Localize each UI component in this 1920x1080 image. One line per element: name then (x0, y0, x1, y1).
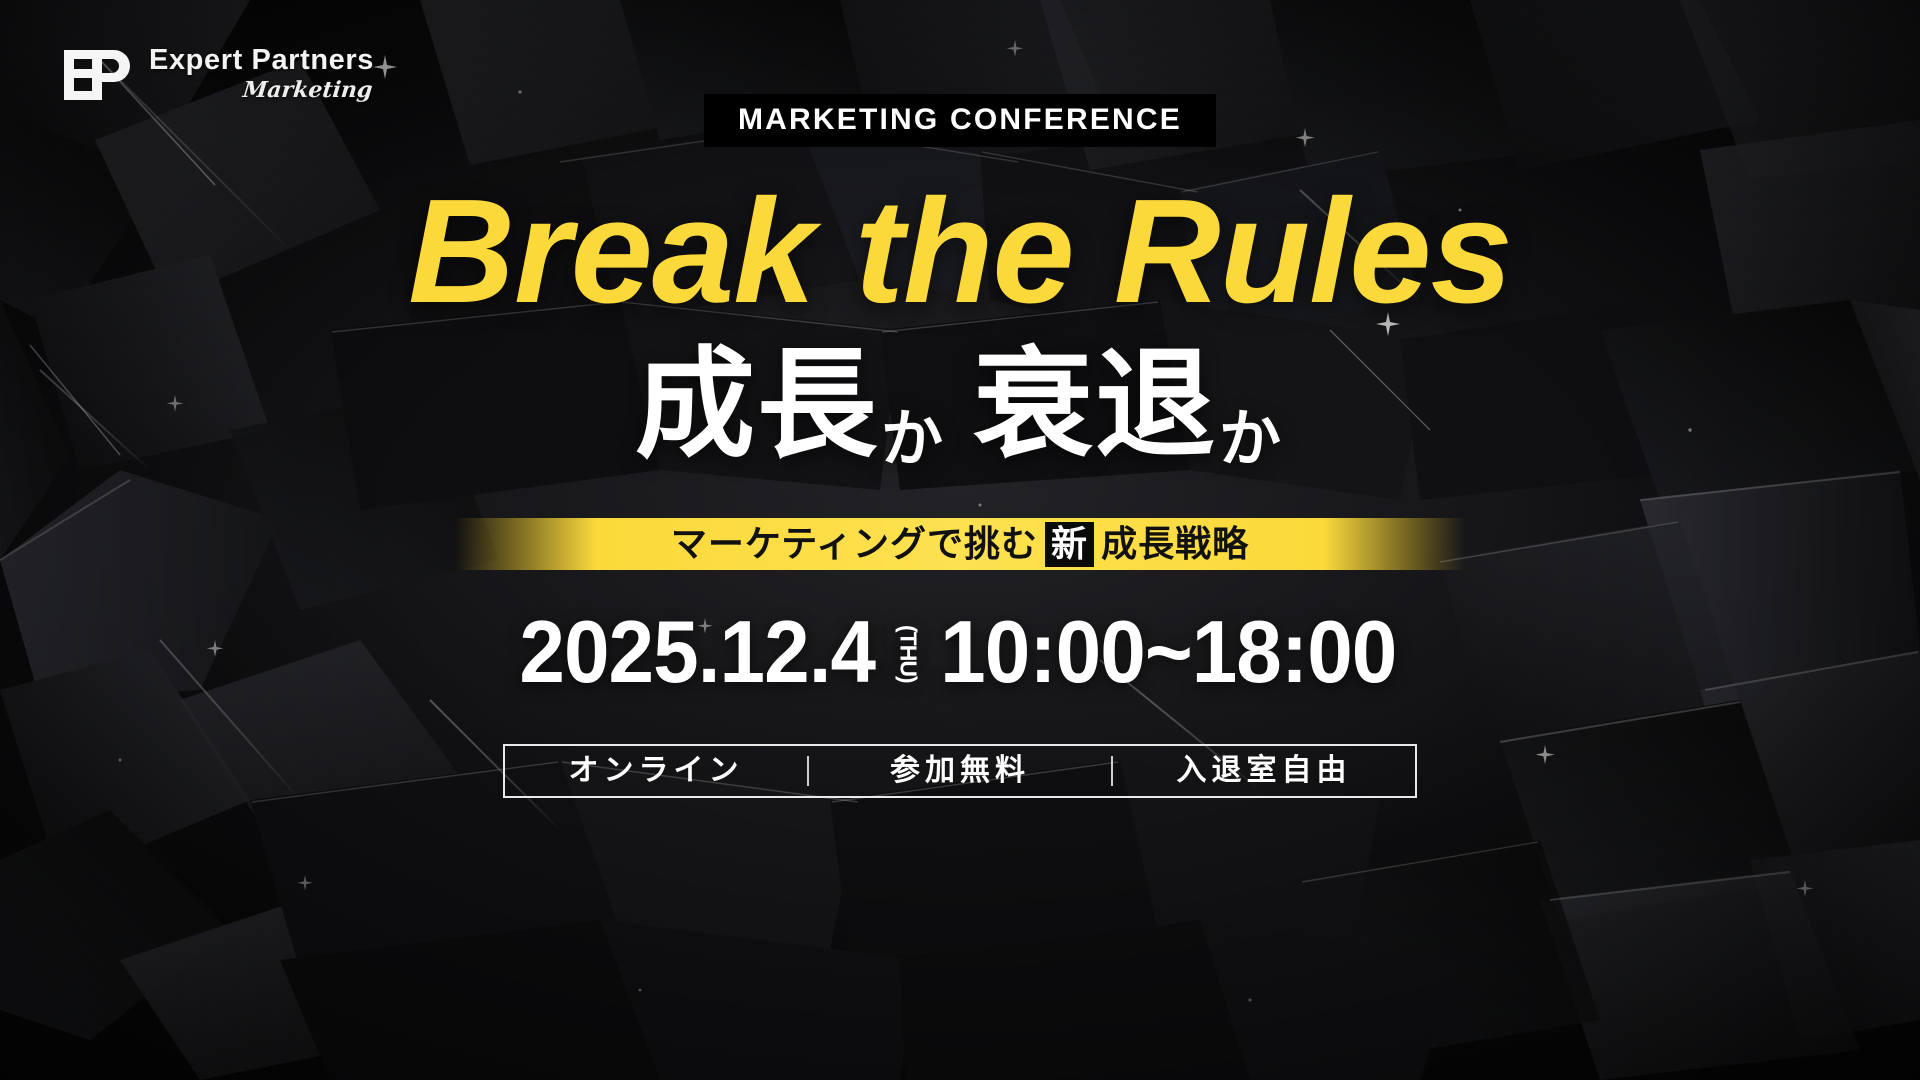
brand-tagline: Marketing (242, 79, 374, 101)
subtitle-after: 成長戦略 (1101, 526, 1249, 562)
subtitle-strip: マーケティングで挑む 新 成長戦略 (455, 518, 1465, 570)
info-item-online: オンライン (505, 756, 807, 786)
info-item-free: 参加無料 (809, 756, 1111, 786)
event-time: 10:00~18:00 (941, 608, 1397, 696)
info-item-free-entry: 入退室自由 (1113, 756, 1415, 786)
hero-title-japanese: 成長か衰退か (210, 345, 1710, 465)
subtitle-text: マーケティングで挑む 新 成長戦略 (671, 522, 1249, 567)
subtitle-before: マーケティングで挑む (671, 526, 1038, 562)
hero-jp-growth: 成長 (635, 338, 879, 472)
poster-canvas: Expert Partners Marketing MARKETING CONF… (0, 0, 1920, 1080)
event-day-of-week: (THU) (896, 625, 919, 683)
event-info-bar: オンライン 参加無料 入退室自由 (503, 744, 1417, 798)
ep-monogram-icon (62, 48, 136, 102)
hero-jp-decline: 衰退 (973, 338, 1217, 472)
hero-jp-ka-2: か (1219, 409, 1281, 471)
subtitle-highlight: 新 (1045, 522, 1094, 567)
hero-title-english: Break the Rules (260, 178, 1660, 326)
hero-jp-ka-1: か (881, 409, 943, 471)
conference-badge: MARKETING CONFERENCE (704, 94, 1216, 147)
brand-logo: Expert Partners Marketing (62, 46, 374, 102)
event-date: 2025.12.4 (519, 608, 875, 696)
brand-name: Expert Partners (149, 46, 374, 75)
event-schedule: 2025.12.4 (THU) 10:00~18:00 (210, 608, 1710, 696)
